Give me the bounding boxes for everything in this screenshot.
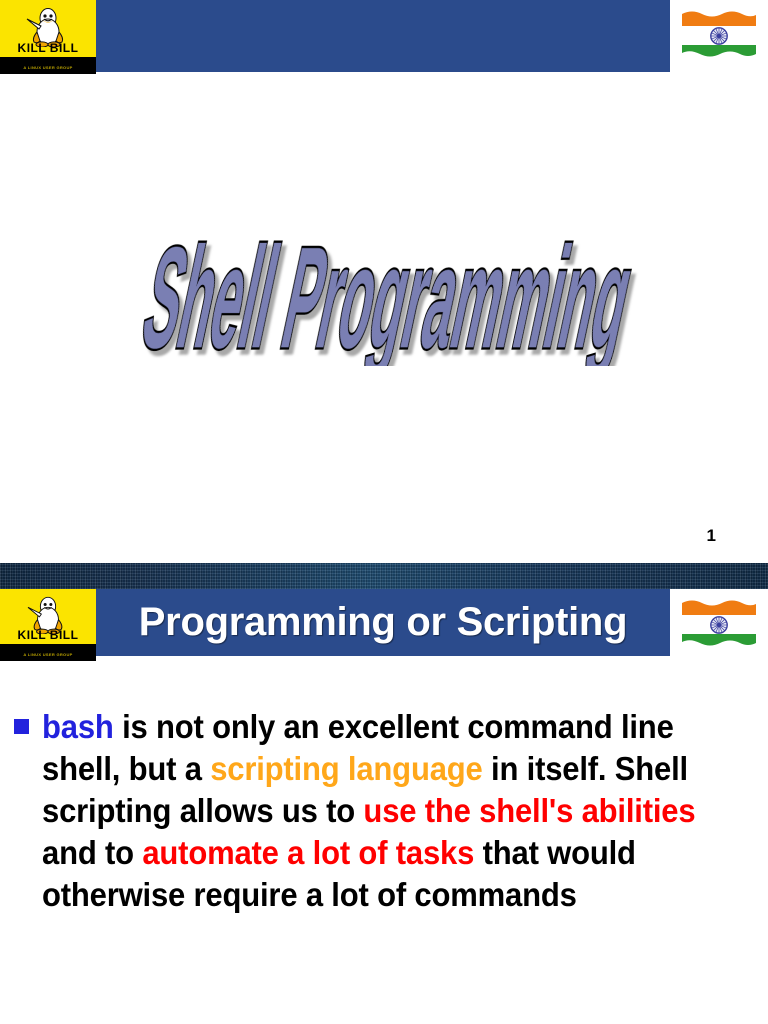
slide-2-title: Programming or Scripting <box>96 589 670 656</box>
slide-1-title-wordart: Shell Programming <box>0 196 768 366</box>
india-flag-icon <box>678 8 760 64</box>
wordart-title-svg: Shell Programming <box>74 196 694 366</box>
bullet-text-run-5: and to <box>42 834 142 871</box>
slide-2-body: bash is not only an excellent command li… <box>0 673 768 949</box>
slide-2: Programming or Scripting KILL BILL A LIN… <box>0 563 768 1024</box>
svg-text:Shell Programming: Shell Programming <box>131 218 645 366</box>
square-bullet-icon <box>14 719 29 734</box>
kill-bill-logo: KILL BILL A LINUX USER GROUP <box>0 0 96 74</box>
slide-number: 1 <box>707 526 716 546</box>
logo-word: KILL BILL <box>0 41 96 55</box>
bullet-text-run-2: scripting language <box>210 750 482 787</box>
slide-1-header-band <box>0 0 768 72</box>
kill-bill-logo: KILL BILL A LINUX USER GROUP <box>0 589 96 661</box>
slide-1: KILL BILL A LINUX USER GROUP <box>0 0 768 563</box>
india-flag-icon <box>678 597 760 653</box>
bullet-text-run-0: bash <box>42 708 114 745</box>
slide-divider-texture <box>0 563 768 589</box>
logo-word: KILL BILL <box>0 628 96 642</box>
bullet-text-run-4: use the shell's abilities <box>363 792 695 829</box>
bullet-list-item: bash is not only an excellent command li… <box>0 706 768 916</box>
logo-subtext: A LINUX USER GROUP <box>0 65 96 70</box>
bullet-text-run-6: automate a lot of tasks <box>142 834 474 871</box>
bullet-paragraph: bash is not only an excellent command li… <box>42 706 700 916</box>
india-flag-box <box>670 0 768 72</box>
logo-subtext: A LINUX USER GROUP <box>0 652 96 657</box>
india-flag-box <box>670 589 768 661</box>
